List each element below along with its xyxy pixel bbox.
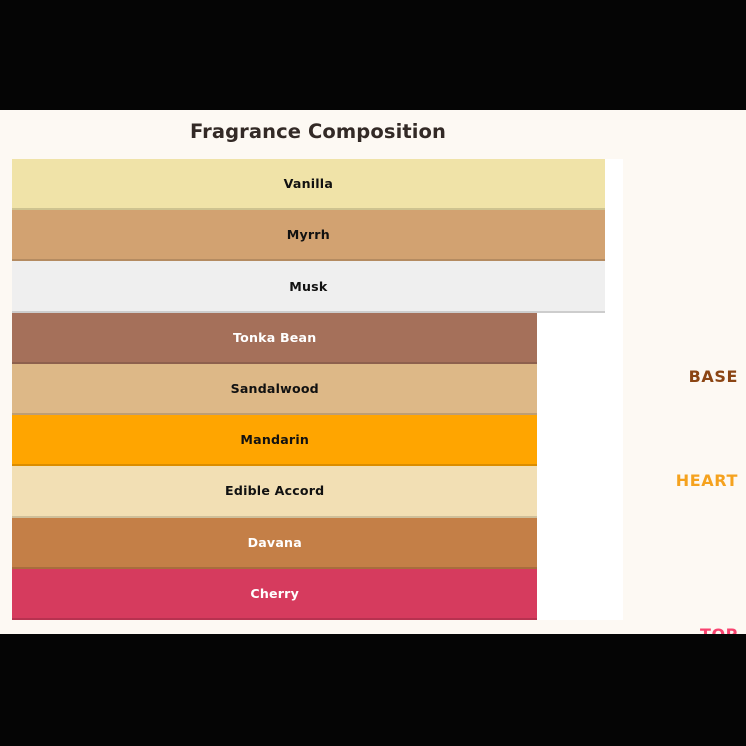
plot-area: VanillaMyrrhMuskTonka BeanSandalwoodMand… bbox=[12, 159, 623, 620]
bar-davana[interactable]: Davana bbox=[12, 518, 537, 569]
bar-mandarin[interactable]: Mandarin bbox=[12, 415, 537, 466]
group-label-heart: HEART bbox=[676, 471, 738, 490]
bar-series: VanillaMyrrhMuskTonka BeanSandalwoodMand… bbox=[12, 159, 623, 620]
bar-edible-accord[interactable]: Edible Accord bbox=[12, 466, 537, 517]
bar-label: Davana bbox=[248, 535, 302, 550]
bar-musk[interactable]: Musk bbox=[12, 261, 605, 312]
page-title: Fragrance Composition bbox=[0, 120, 636, 143]
bar-label: Musk bbox=[289, 279, 327, 294]
letterbox-bottom-bar bbox=[0, 634, 746, 746]
bar-label: Edible Accord bbox=[225, 483, 324, 498]
screenshot-root: Fragrance Composition VanillaMyrrhMuskTo… bbox=[0, 0, 746, 746]
bar-label: Cherry bbox=[250, 586, 299, 601]
group-label-base: BASE bbox=[689, 367, 738, 386]
bar-label: Mandarin bbox=[240, 432, 309, 447]
fragrance-composition-figure: Fragrance Composition VanillaMyrrhMuskTo… bbox=[0, 110, 746, 634]
bar-myrrh[interactable]: Myrrh bbox=[12, 210, 605, 261]
bar-label: Sandalwood bbox=[231, 381, 319, 396]
bar-cherry[interactable]: Cherry bbox=[12, 569, 537, 620]
bar-label: Vanilla bbox=[284, 176, 333, 191]
bar-label: Tonka Bean bbox=[233, 330, 316, 345]
bar-sandalwood[interactable]: Sandalwood bbox=[12, 364, 537, 415]
bar-label: Myrrh bbox=[287, 227, 330, 242]
bar-tonka-bean[interactable]: Tonka Bean bbox=[12, 313, 537, 364]
bar-vanilla[interactable]: Vanilla bbox=[12, 159, 605, 210]
letterbox-top-bar bbox=[0, 0, 746, 110]
